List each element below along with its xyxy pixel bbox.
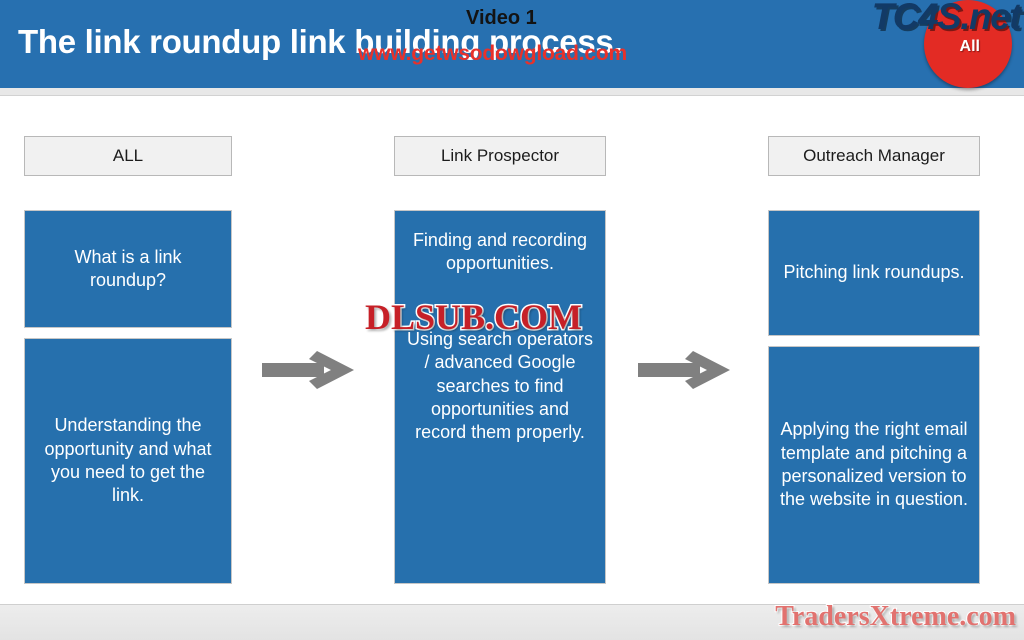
column-header-all: ALL (24, 136, 232, 176)
box-all-2: Understanding the opportunity and what y… (24, 338, 232, 584)
column-outreach-manager: Outreach Manager Pitching link roundups.… (768, 136, 980, 584)
box-link-prospector: Finding and recording opportunities. Usi… (394, 210, 606, 584)
slide-canvas: The link roundup link building process. … (0, 0, 1024, 640)
footer-video-label: Video 1 (466, 7, 537, 30)
logo-text: TC4S.net (872, 0, 1020, 38)
arrow-right-icon-1 (262, 348, 358, 392)
box-link-prospector-2: Using search operators / advanced Google… (405, 328, 595, 445)
column-header-link-prospector: Link Prospector (394, 136, 606, 176)
column-link-prospector: Link Prospector Finding and recording op… (394, 136, 606, 584)
box-outreach-2: Applying the right email template and pi… (768, 346, 980, 584)
box-all-1: What is a link roundup? (24, 210, 232, 328)
column-header-outreach-manager: Outreach Manager (768, 136, 980, 176)
box-outreach-1: Pitching link roundups. (768, 210, 980, 336)
center-watermark: DLSUB.COM (365, 296, 582, 338)
logo-badge-label: All (960, 38, 980, 56)
site-logo: TC4S.net All (834, 0, 1024, 96)
header-watermark-url: www.getwsodowgload.com (358, 42, 627, 66)
footer-watermark: TradersXtreme.com (775, 601, 1016, 633)
box-link-prospector-1: Finding and recording opportunities. (405, 229, 595, 276)
arrow-right-icon-2 (638, 348, 734, 392)
column-all: ALL What is a link roundup? Understandin… (24, 136, 232, 584)
